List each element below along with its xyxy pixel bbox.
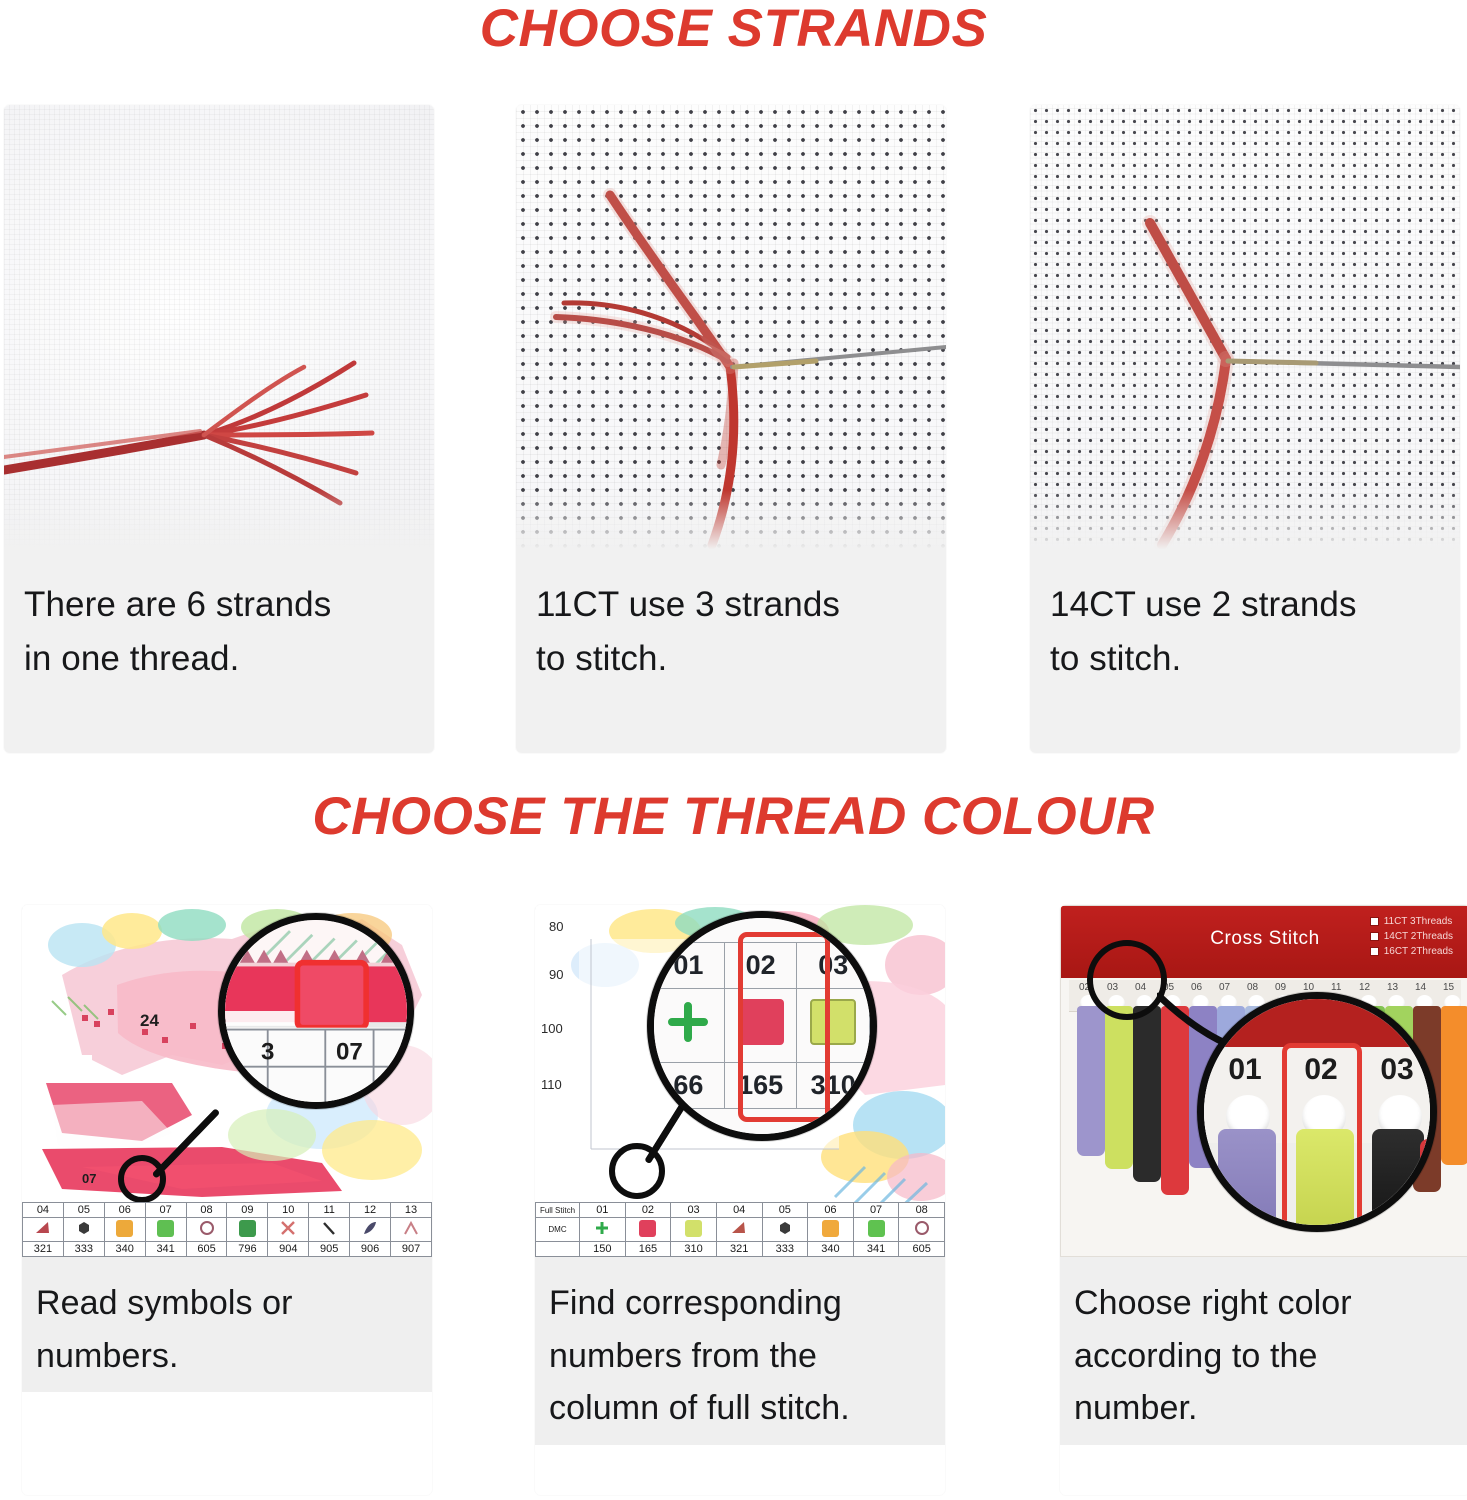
legend-table: 04 05 06 07 08 09 10 11 12 13 bbox=[22, 1202, 432, 1257]
thread-card-number: 11 bbox=[1331, 982, 1341, 993]
legend-dmc-code: 321 bbox=[716, 1242, 762, 1257]
legend-dmc-code: 165 bbox=[625, 1242, 671, 1257]
legend-symbol-square-orange bbox=[104, 1218, 145, 1242]
magnified-dmc-code: 310 bbox=[797, 1063, 870, 1109]
legend-dmc-code: 310 bbox=[671, 1242, 717, 1257]
magnified-col-number: 02 bbox=[724, 943, 797, 989]
checkbox-icon bbox=[1370, 932, 1379, 941]
legend-dmc-code: 906 bbox=[350, 1242, 391, 1257]
caption-line: 14CT use 2 strands bbox=[1050, 578, 1440, 632]
thread-skein bbox=[1077, 1006, 1105, 1156]
legend-dmc-code: 340 bbox=[808, 1242, 854, 1257]
chart-column-label: 07 bbox=[82, 1171, 96, 1186]
caption-line: according to the bbox=[1074, 1330, 1456, 1383]
legend-code-row: 150 165 310 321 333 340 341 605 bbox=[536, 1242, 945, 1257]
caption-choose-color: Choose right color according to the numb… bbox=[1060, 1257, 1467, 1445]
legend-symbol-square-orange bbox=[808, 1218, 854, 1242]
checkbox-icon bbox=[1370, 947, 1379, 956]
legend-symbol-row: DMC bbox=[536, 1218, 945, 1242]
checkbox-icon bbox=[1370, 917, 1379, 926]
legend-row-label: Full Stitch bbox=[536, 1203, 580, 1218]
thread-card-option: 16CT 2Threads bbox=[1370, 946, 1453, 957]
legend-dmc-code: 150 bbox=[580, 1242, 626, 1257]
legend-dmc-code: 341 bbox=[853, 1242, 899, 1257]
card-read-symbols: 24 07 bbox=[22, 905, 432, 1495]
legend-header-row: 04 05 06 07 08 09 10 11 12 13 bbox=[23, 1203, 432, 1218]
legend-col-number: 04 bbox=[23, 1203, 64, 1218]
thread-card-option: 14CT 2Threads bbox=[1370, 931, 1453, 942]
section-heading-choose-strands: CHOOSE STRANDS bbox=[0, 2, 1467, 55]
photo-pattern-chart: 24 07 bbox=[22, 905, 432, 1257]
axis-label: 80 bbox=[549, 919, 563, 934]
photo-bottom-fade bbox=[4, 490, 434, 560]
legend-col-number: 07 bbox=[145, 1203, 186, 1218]
option-label: 16CT 2Threads bbox=[1384, 946, 1453, 957]
svg-text:07: 07 bbox=[336, 1038, 363, 1065]
magnified-dmc-code: 165 bbox=[724, 1063, 797, 1109]
strands-card-row: There are 6 strands in one thread. bbox=[0, 105, 1467, 755]
legend-symbol-triangle bbox=[716, 1218, 762, 1242]
legend-symbol-arch bbox=[391, 1218, 432, 1242]
thread-card-number: 13 bbox=[1387, 982, 1398, 993]
magnified-col-number: 03 bbox=[797, 943, 870, 989]
legend-col-number: 02 bbox=[625, 1203, 671, 1218]
legend-table: Full Stitch 01 02 03 04 05 06 07 08 DMC bbox=[535, 1202, 945, 1257]
thread-skein bbox=[1105, 1006, 1133, 1169]
card-six-strands: There are 6 strands in one thread. bbox=[4, 105, 434, 753]
symbol-legend-middle: Full Stitch 01 02 03 04 05 06 07 08 DMC bbox=[535, 1202, 945, 1257]
legend-symbol-cross-x bbox=[268, 1218, 309, 1242]
thread-skein bbox=[1441, 1006, 1467, 1165]
option-label: 14CT 2Threads bbox=[1384, 931, 1453, 942]
caption-line: numbers. bbox=[36, 1330, 418, 1383]
caption-11ct: 11CT use 3 strands to stitch. bbox=[516, 560, 946, 697]
magnified-col-number: 02 bbox=[1286, 1053, 1356, 1087]
photo-thread-organizer-card: Cross Stitch 11CT 3Threads 14CT 2Threads… bbox=[1060, 905, 1467, 1257]
legend-symbol-circle-outline bbox=[899, 1218, 945, 1242]
caption-line: 11CT use 3 strands bbox=[536, 578, 926, 632]
caption-line: Read symbols or bbox=[36, 1277, 418, 1330]
card-find-numbers: 80 90 100 110 01 02 bbox=[535, 905, 945, 1495]
legend-dmc-code: 904 bbox=[268, 1242, 309, 1257]
legend-header-row: Full Stitch 01 02 03 04 05 06 07 08 bbox=[536, 1203, 945, 1218]
legend-symbol-square-darkgreen bbox=[227, 1218, 268, 1242]
thread-card-number: 14 bbox=[1415, 982, 1426, 993]
section-heading-choose-thread-colour: CHOOSE THE THREAD COLOUR bbox=[0, 790, 1467, 843]
legend-col-number: 05 bbox=[762, 1203, 808, 1218]
magnified-dmc-code: 66 bbox=[653, 1063, 725, 1109]
sample-circle-icon bbox=[118, 1155, 166, 1203]
magnifier-lens: 01 02 03 bbox=[1197, 992, 1437, 1232]
caption-line: There are 6 strands bbox=[24, 578, 414, 632]
magnified-skein bbox=[1372, 1129, 1424, 1232]
legend-dmc-code: 907 bbox=[391, 1242, 432, 1257]
caption-line: numbers from the bbox=[549, 1330, 931, 1383]
legend-col-number: 08 bbox=[899, 1203, 945, 1218]
legend-code-row: 321 333 340 341 605 796 904 905 906 907 bbox=[23, 1242, 432, 1257]
legend-dmc-code: 333 bbox=[762, 1242, 808, 1257]
legend-col-number: 06 bbox=[104, 1203, 145, 1218]
legend-col-number: 06 bbox=[808, 1203, 854, 1218]
option-label: 11CT 3Threads bbox=[1384, 916, 1453, 927]
legend-row-label bbox=[536, 1242, 580, 1257]
magnifier-lens: 3 07 bbox=[218, 913, 414, 1109]
magnified-card-header bbox=[1204, 999, 1430, 1047]
photo-14ct bbox=[1030, 105, 1460, 560]
caption-line: column of full stitch. bbox=[549, 1382, 931, 1435]
legend-col-number: 11 bbox=[309, 1203, 350, 1218]
legend-symbol-row bbox=[23, 1218, 432, 1242]
legend-dmc-code: 341 bbox=[145, 1242, 186, 1257]
legend-dmc-code: 340 bbox=[104, 1242, 145, 1257]
legend-symbol-square-yellowgreen bbox=[671, 1218, 717, 1242]
legend-symbol-slash bbox=[309, 1218, 350, 1242]
legend-col-number: 08 bbox=[186, 1203, 227, 1218]
legend-dmc-code: 605 bbox=[899, 1242, 945, 1257]
magnifier-lens: 01 02 03 bbox=[647, 911, 877, 1141]
legend-symbol-circle-outline bbox=[186, 1218, 227, 1242]
axis-label: 110 bbox=[541, 1077, 562, 1092]
legend-dmc-code: 333 bbox=[63, 1242, 104, 1257]
magnified-header-row: 01 02 03 bbox=[653, 943, 870, 989]
legend-dmc-code: 605 bbox=[186, 1242, 227, 1257]
legend-col-number: 10 bbox=[268, 1203, 309, 1218]
photo-11ct bbox=[516, 105, 946, 560]
infographic-page: CHOOSE STRANDS bbox=[0, 0, 1467, 1500]
sample-circle-icon bbox=[1087, 940, 1167, 1020]
magnified-col-number: 03 bbox=[1362, 1053, 1432, 1087]
caption-line: to stitch. bbox=[1050, 632, 1440, 686]
card-11ct-three-strands: 11CT use 3 strands to stitch. bbox=[516, 105, 946, 753]
magnified-skein bbox=[1296, 1129, 1354, 1232]
chart-marker-number: 24 bbox=[140, 1011, 159, 1031]
thread-card-option: 11CT 3Threads bbox=[1370, 916, 1453, 927]
legend-row-label: DMC bbox=[536, 1218, 580, 1242]
thread-card-options: 11CT 3Threads 14CT 2Threads 16CT 2Thread… bbox=[1370, 916, 1453, 961]
thread-card-number: 12 bbox=[1359, 982, 1370, 993]
photo-six-strands bbox=[4, 105, 434, 560]
svg-text:3: 3 bbox=[261, 1038, 274, 1065]
legend-symbol-square-green bbox=[853, 1218, 899, 1242]
caption-six-strands: There are 6 strands in one thread. bbox=[4, 560, 434, 697]
axis-label: 90 bbox=[549, 967, 563, 982]
legend-symbol-square-red bbox=[625, 1218, 671, 1242]
card-choose-color: Cross Stitch 11CT 3Threads 14CT 2Threads… bbox=[1060, 905, 1467, 1495]
legend-symbol-triangle bbox=[23, 1218, 64, 1242]
magnified-symbol-cross-green bbox=[653, 989, 725, 1063]
legend-symbol-square-green bbox=[145, 1218, 186, 1242]
caption-find-numbers: Find corresponding numbers from the colu… bbox=[535, 1257, 945, 1445]
legend-col-number: 12 bbox=[350, 1203, 391, 1218]
legend-symbol-cross-green bbox=[580, 1218, 626, 1242]
legend-col-number: 07 bbox=[853, 1203, 899, 1218]
magnified-symbol-square-yellowgreen bbox=[797, 989, 870, 1063]
axis-label: 100 bbox=[541, 1021, 563, 1036]
legend-col-number: 05 bbox=[63, 1203, 104, 1218]
magnified-legend: 01 02 03 bbox=[652, 942, 870, 1109]
legend-dmc-code: 321 bbox=[23, 1242, 64, 1257]
caption-line: to stitch. bbox=[536, 632, 926, 686]
magnifier-content: 01 02 03 bbox=[654, 918, 870, 1134]
caption-line: Find corresponding bbox=[549, 1277, 931, 1330]
caption-14ct: 14CT use 2 strands to stitch. bbox=[1030, 560, 1460, 697]
card-14ct-two-strands: 14CT use 2 strands to stitch. bbox=[1030, 105, 1460, 753]
photo-bottom-fade bbox=[1030, 490, 1460, 560]
legend-col-number: 03 bbox=[671, 1203, 717, 1218]
legend-col-number: 09 bbox=[227, 1203, 268, 1218]
legend-col-number: 01 bbox=[580, 1203, 626, 1218]
symbol-legend-left: 04 05 06 07 08 09 10 11 12 13 bbox=[22, 1202, 432, 1257]
photo-bottom-fade bbox=[516, 490, 946, 560]
magnified-skein bbox=[1218, 1129, 1276, 1232]
caption-line: in one thread. bbox=[24, 632, 414, 686]
legend-symbol-hexagon bbox=[63, 1218, 104, 1242]
magnified-col-number: 01 bbox=[653, 943, 725, 989]
legend-symbol-hexagon bbox=[762, 1218, 808, 1242]
magnifier-content: 01 02 03 bbox=[1204, 999, 1430, 1225]
thread-card-number: 15 bbox=[1443, 982, 1454, 993]
legend-symbol-leaf bbox=[350, 1218, 391, 1242]
magnified-symbol-row bbox=[653, 989, 870, 1063]
caption-read-symbols: Read symbols or numbers. bbox=[22, 1257, 432, 1392]
magnified-symbol-square-red bbox=[724, 989, 797, 1063]
legend-dmc-code: 796 bbox=[227, 1242, 268, 1257]
caption-line: number. bbox=[1074, 1382, 1456, 1435]
legend-col-number: 04 bbox=[716, 1203, 762, 1218]
colour-card-row: 24 07 bbox=[0, 905, 1467, 1500]
magnifier-content: 3 07 bbox=[225, 920, 407, 1102]
magnified-col-number: 01 bbox=[1210, 1053, 1280, 1087]
photo-pattern-chart-numbers: 80 90 100 110 01 02 bbox=[535, 905, 945, 1257]
caption-line: Choose right color bbox=[1074, 1277, 1456, 1330]
legend-col-number: 13 bbox=[391, 1203, 432, 1218]
magnified-legend-table: 01 02 03 bbox=[652, 942, 870, 1109]
legend-dmc-code: 905 bbox=[309, 1242, 350, 1257]
magnified-code-row: 66 165 310 bbox=[653, 1063, 870, 1109]
